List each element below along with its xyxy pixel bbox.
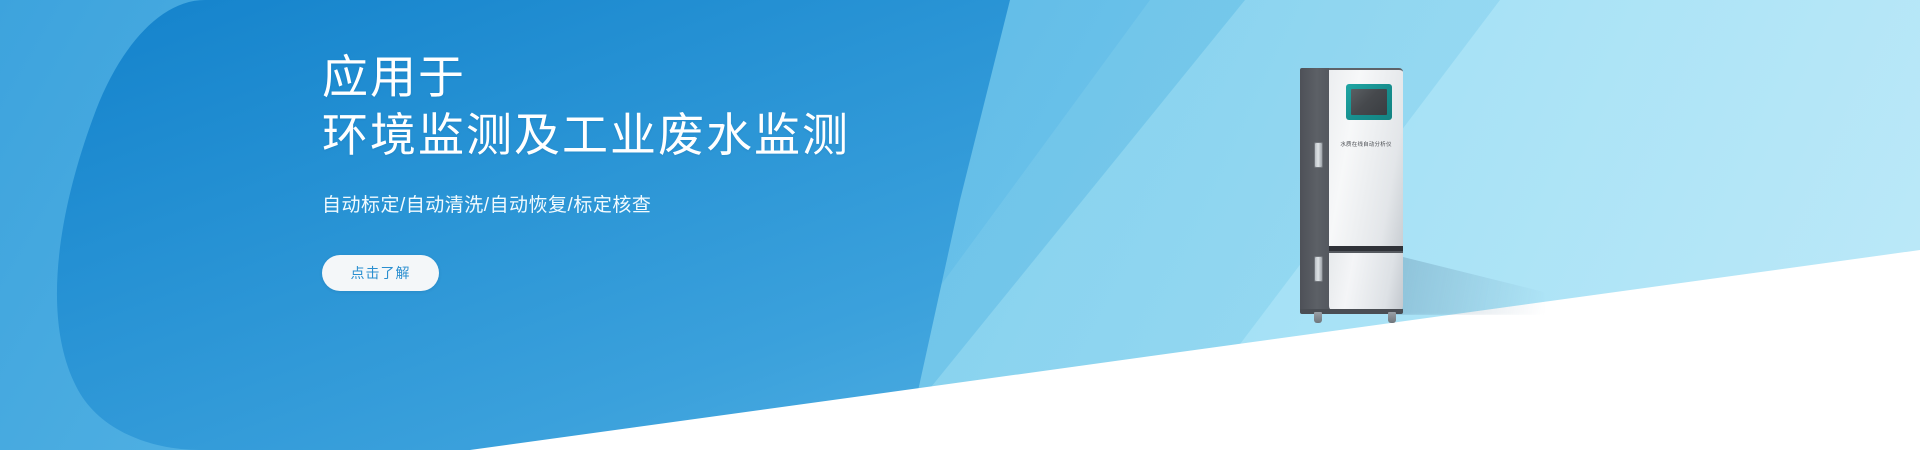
learn-more-button[interactable]: 点击了解 (322, 255, 439, 291)
caster-wheel-right (1388, 312, 1396, 323)
product-label: 水质在线自动分析仪 (1329, 140, 1403, 148)
cabinet-lower-door (1329, 251, 1403, 311)
cabinet-base (1300, 309, 1403, 314)
hero-banner: 应用于 环境监测及工业废水监测 自动标定/自动清洗/自动恢复/标定核查 点击了解… (0, 0, 1920, 450)
display-screen (1351, 89, 1387, 115)
product-image-analyzer: 水质在线自动分析仪 (1300, 60, 1480, 320)
page-title: 应用于 环境监测及工业废水监测 (322, 48, 1082, 164)
hero-subtitle: 自动标定/自动清洗/自动恢复/标定核查 (322, 190, 1082, 217)
cabinet-handle-upper (1314, 142, 1323, 168)
caster-wheel-left (1314, 312, 1322, 323)
cabinet-handle-lower (1314, 256, 1323, 282)
hero-copy-block: 应用于 环境监测及工业废水监测 自动标定/自动清洗/自动恢复/标定核查 点击了解 (322, 48, 1082, 291)
